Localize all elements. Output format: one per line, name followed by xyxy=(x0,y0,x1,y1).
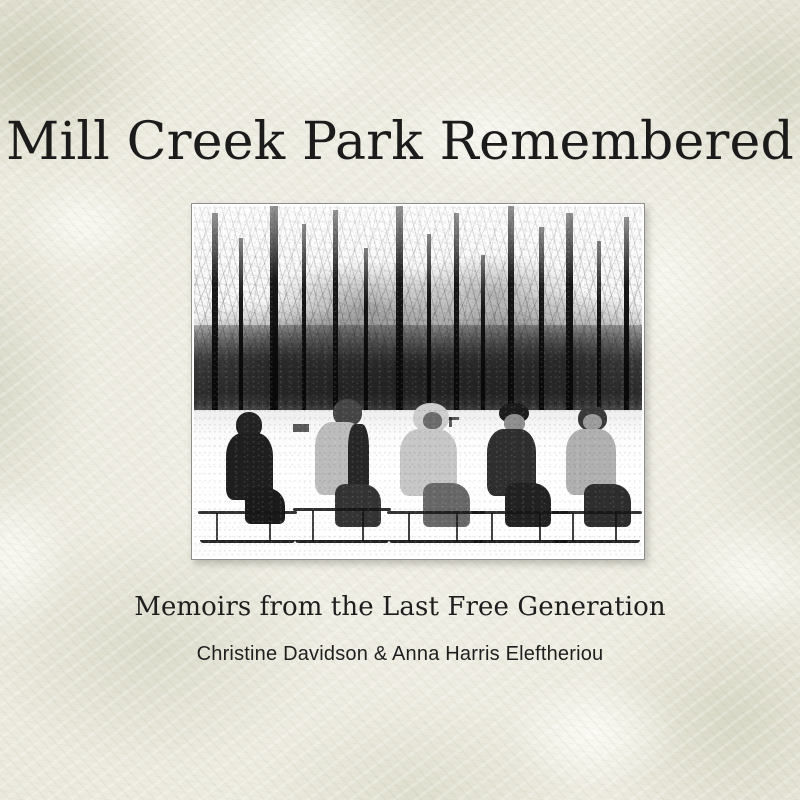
photo-snow-marker xyxy=(293,424,309,432)
photo-tree-trunk xyxy=(212,213,218,413)
photo-sled xyxy=(387,511,486,543)
cover-authors: Christine Davidson & Anna Harris Elefthe… xyxy=(0,643,800,666)
photo-tree-trunk xyxy=(508,206,514,413)
photo-tree-trunk xyxy=(539,227,544,413)
photo-tree-trunk xyxy=(454,213,459,413)
photo-sled xyxy=(293,508,392,543)
photo-tree-trunk xyxy=(239,238,243,414)
photo-tree-trunk xyxy=(333,210,338,414)
cover-title: Mill Creek Park Remembered xyxy=(0,112,800,172)
photo-tree-trunk xyxy=(566,213,573,413)
photo-tree-trunk xyxy=(302,224,306,414)
photo-child-face xyxy=(423,412,442,429)
photo-tree-trunk xyxy=(396,206,403,413)
photo-child-face xyxy=(583,414,603,430)
photo-tree-trunk xyxy=(427,234,431,413)
photo-tree-trunk xyxy=(597,241,601,413)
photo-sled xyxy=(198,511,297,543)
photo-tree-trunk xyxy=(481,255,485,413)
book-cover: Mill Creek Park Remembered xyxy=(0,0,800,800)
photo-tree-trunk xyxy=(624,217,629,414)
cover-photograph xyxy=(194,206,642,557)
photo-tree-trunk xyxy=(270,206,278,413)
photo-child-scarf xyxy=(348,424,369,493)
photo-tree-trunk xyxy=(364,248,368,413)
cover-subtitle: Memoirs from the Last Free Generation xyxy=(0,592,800,622)
cover-photograph-frame xyxy=(191,203,645,560)
photo-sled xyxy=(552,511,642,543)
